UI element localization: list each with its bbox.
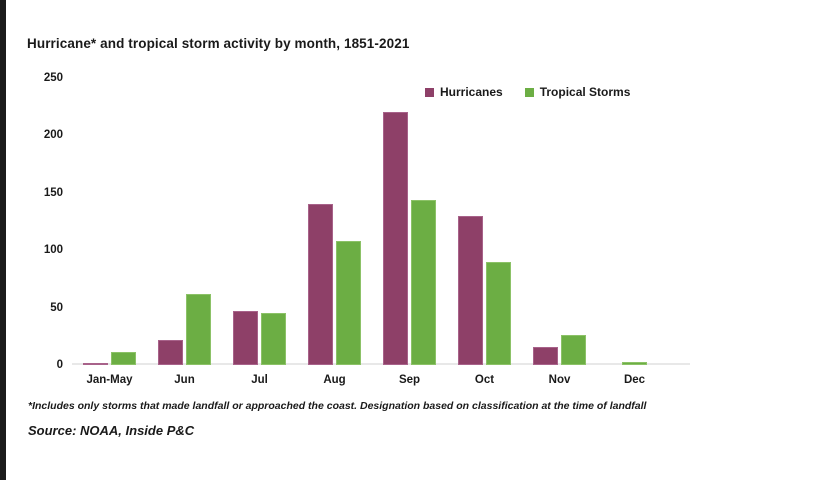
y-axis-tick: 50 — [50, 302, 63, 314]
bar-tropical-storms[interactable] — [561, 335, 586, 365]
x-axis-tick: Oct — [475, 374, 494, 386]
plot-area: 050100150200250 Jan-MayJunJulAugSepOctNo… — [72, 78, 672, 365]
x-axis-tick: Jun — [174, 374, 194, 386]
bar-group: Oct — [447, 78, 522, 365]
bar-tropical-storms[interactable] — [111, 352, 136, 365]
bar-group: Jul — [222, 78, 297, 365]
y-axis-tick: 150 — [44, 187, 63, 199]
bar-tropical-storms[interactable] — [622, 362, 647, 365]
right-edge-band — [836, 0, 840, 480]
bar-hurricanes[interactable] — [533, 347, 558, 365]
chart-title: Hurricane* and tropical storm activity b… — [27, 36, 409, 51]
bar-hurricanes[interactable] — [308, 204, 333, 365]
y-axis-tick: 0 — [57, 359, 63, 371]
bar-group: Jan-May — [72, 78, 147, 365]
bar-group: Dec — [597, 78, 672, 365]
bar-tropical-storms[interactable] — [486, 262, 511, 365]
y-axis-tick: 200 — [44, 129, 63, 141]
chart-source: Source: NOAA, Inside P&C — [28, 423, 194, 438]
bar-tropical-storms[interactable] — [336, 241, 361, 365]
bar-tropical-storms[interactable] — [261, 313, 286, 365]
bar-group: Aug — [297, 78, 372, 365]
bar-hurricanes[interactable] — [383, 112, 408, 365]
left-edge-band — [0, 0, 6, 480]
bar-group: Sep — [372, 78, 447, 365]
bar-hurricanes[interactable] — [233, 311, 258, 365]
y-axis-tick: 100 — [44, 244, 63, 256]
bar-group: Nov — [522, 78, 597, 365]
x-axis-tick: Aug — [323, 374, 345, 386]
bar-groups: Jan-MayJunJulAugSepOctNovDec — [72, 78, 672, 365]
bar-group: Jun — [147, 78, 222, 365]
bar-hurricanes[interactable] — [83, 363, 108, 366]
x-axis-tick: Jul — [251, 374, 268, 386]
x-axis-tick: Sep — [399, 374, 420, 386]
chart-page: Hurricane* and tropical storm activity b… — [0, 0, 840, 480]
x-axis-tick: Dec — [624, 374, 645, 386]
bar-tropical-storms[interactable] — [411, 200, 436, 365]
bar-hurricanes[interactable] — [158, 340, 183, 365]
bar-hurricanes[interactable] — [458, 216, 483, 365]
y-axis-tick: 250 — [44, 72, 63, 84]
x-axis-tick: Jan-May — [86, 374, 132, 386]
chart-footnote: *Includes only storms that made landfall… — [28, 400, 646, 412]
x-axis-tick: Nov — [549, 374, 571, 386]
bar-tropical-storms[interactable] — [186, 294, 211, 365]
